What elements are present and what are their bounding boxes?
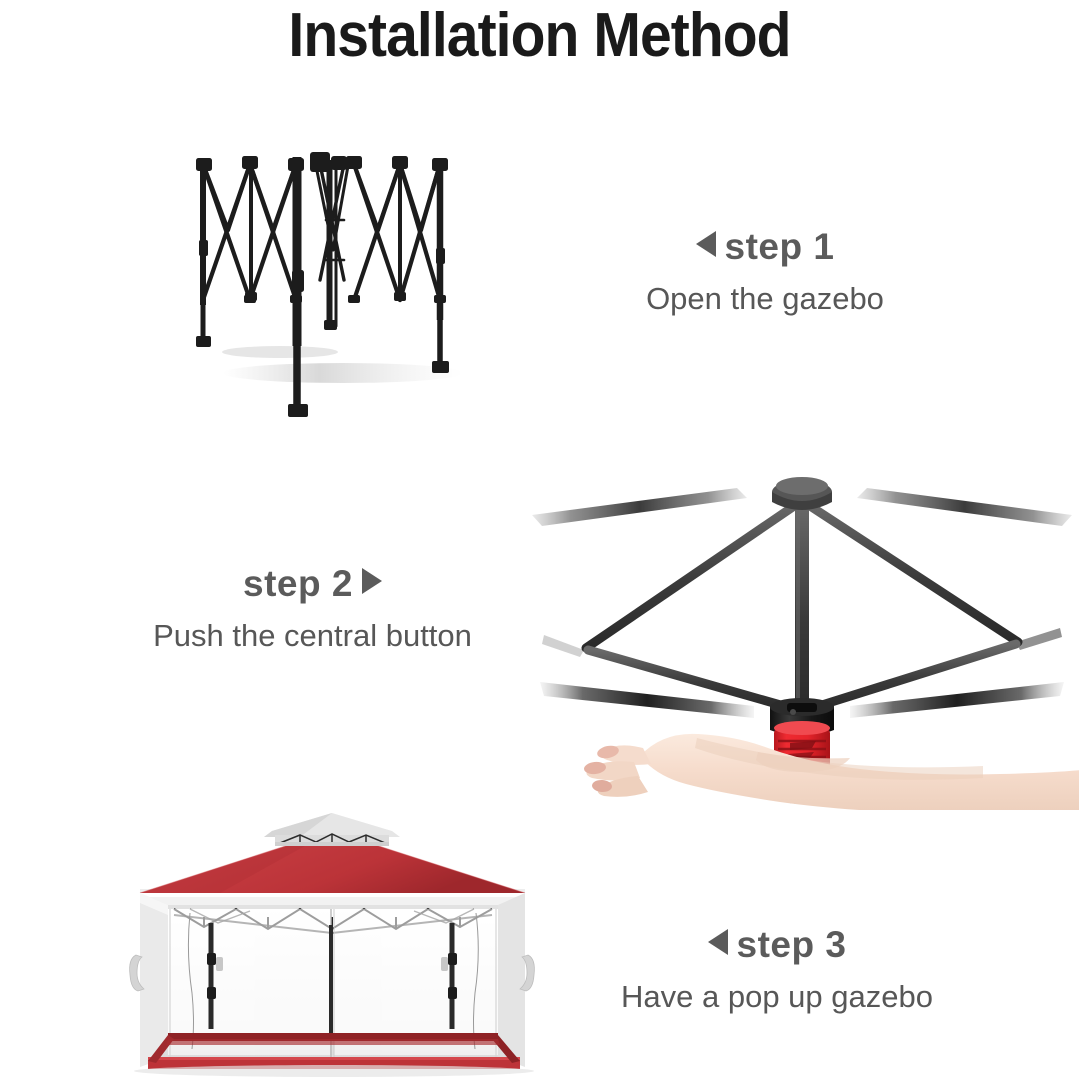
step-1-caption-block: step 1 Open the gazebo — [585, 225, 945, 319]
central-button-hub-image — [522, 460, 1079, 810]
step-3-caption-block: step 3 Have a pop up gazebo — [582, 923, 972, 1017]
step-1-heading: step 1 — [585, 225, 945, 269]
step-3-heading-text: step 3 — [737, 924, 847, 965]
step-3-caption: Have a pop up gazebo — [582, 977, 972, 1017]
step-2-heading: step 2 — [130, 562, 495, 606]
folded-gazebo-frame-image — [168, 130, 498, 430]
installation-method-page: Installation Method — [0, 0, 1079, 1079]
step-2-heading-text: step 2 — [243, 563, 353, 604]
step-1-caption: Open the gazebo — [585, 279, 945, 319]
step-2-caption-block: step 2 Push the central button — [130, 562, 495, 656]
step-1-heading-text: step 1 — [725, 226, 835, 267]
page-title: Installation Method — [43, 0, 1036, 74]
assembled-gazebo-image — [100, 805, 565, 1079]
step-2-caption: Push the central button — [130, 616, 495, 656]
triangle-left-icon — [696, 231, 716, 257]
step-3-heading: step 3 — [582, 923, 972, 967]
triangle-right-icon — [362, 568, 382, 594]
triangle-left-icon — [708, 929, 728, 955]
